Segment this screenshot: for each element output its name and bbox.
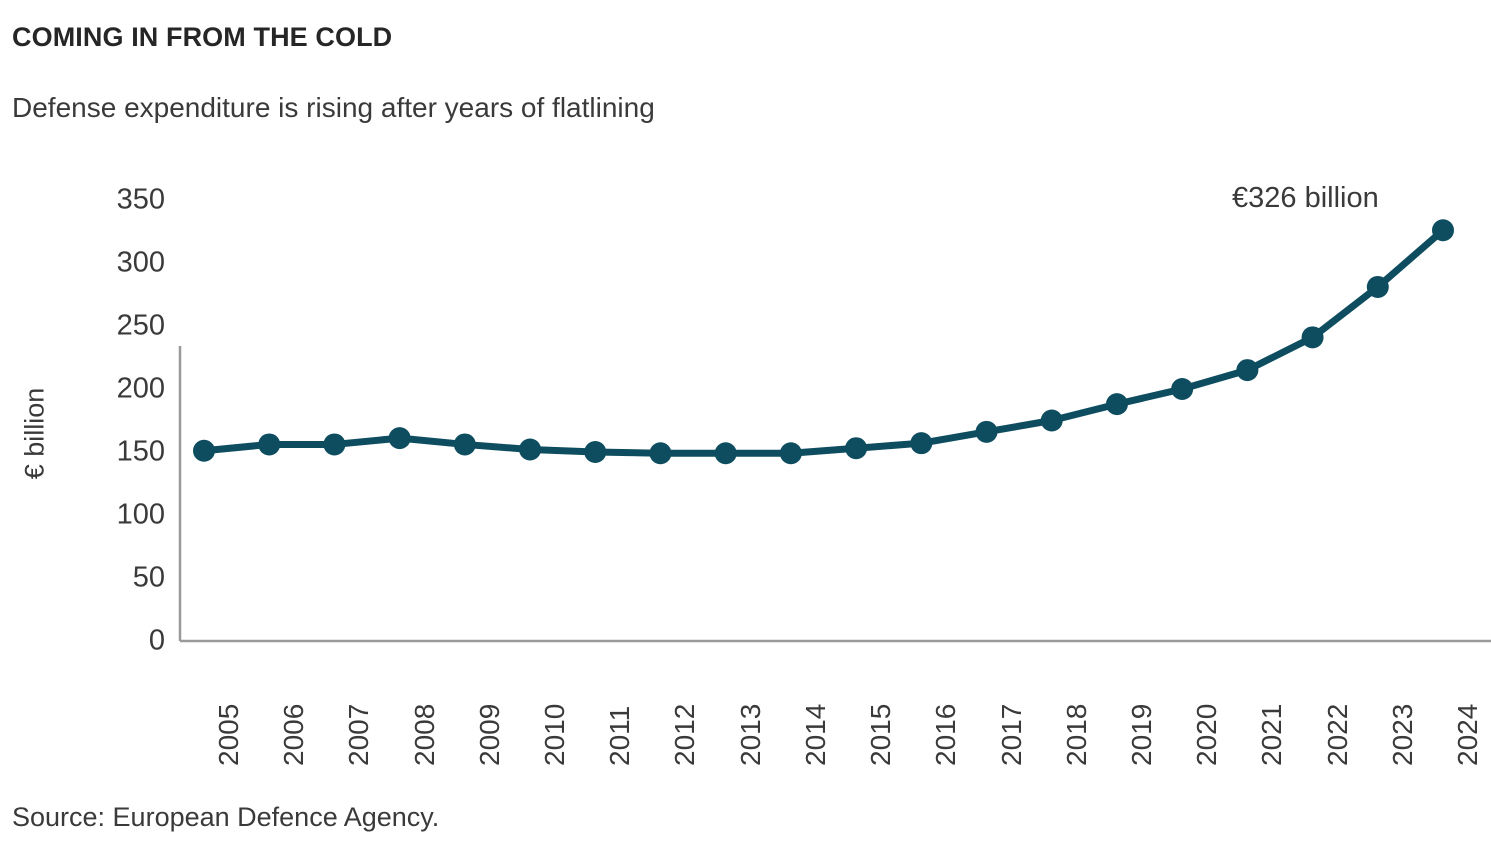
x-tick-2015: 2015 <box>867 704 895 766</box>
x-tick-2019: 2019 <box>1128 704 1156 766</box>
line-chart: € billion 350300250200150100500 20052006… <box>0 150 1491 790</box>
x-tick-2016: 2016 <box>932 704 960 766</box>
x-tick-2018: 2018 <box>1063 704 1091 766</box>
x-tick-2022: 2022 <box>1324 704 1352 766</box>
x-tick-2007: 2007 <box>345 704 373 766</box>
x-tick-2024: 2024 <box>1454 704 1482 766</box>
source-note: Source: European Defence Agency. <box>12 802 439 833</box>
x-tick-2008: 2008 <box>411 704 439 766</box>
page-subtitle: Defense expenditure is rising after year… <box>12 92 655 124</box>
x-axis-ticks: 2005200620072008200920102011201220132014… <box>0 150 1491 790</box>
x-tick-2014: 2014 <box>802 704 830 766</box>
x-tick-2013: 2013 <box>737 704 765 766</box>
x-tick-2011: 2011 <box>606 706 634 766</box>
x-tick-2021: 2021 <box>1258 704 1286 766</box>
x-tick-2005: 2005 <box>215 704 243 766</box>
x-tick-2009: 2009 <box>476 704 504 766</box>
x-tick-2023: 2023 <box>1389 704 1417 766</box>
x-tick-2017: 2017 <box>998 704 1026 766</box>
final-value-annotation: €326 billion <box>1232 182 1379 215</box>
chart-page: COMING IN FROM THE COLD Defense expendit… <box>0 0 1491 850</box>
x-tick-2010: 2010 <box>541 704 569 766</box>
x-tick-2012: 2012 <box>671 704 699 766</box>
x-tick-2006: 2006 <box>280 704 308 766</box>
x-tick-2020: 2020 <box>1193 704 1221 766</box>
page-title: COMING IN FROM THE COLD <box>12 22 392 53</box>
